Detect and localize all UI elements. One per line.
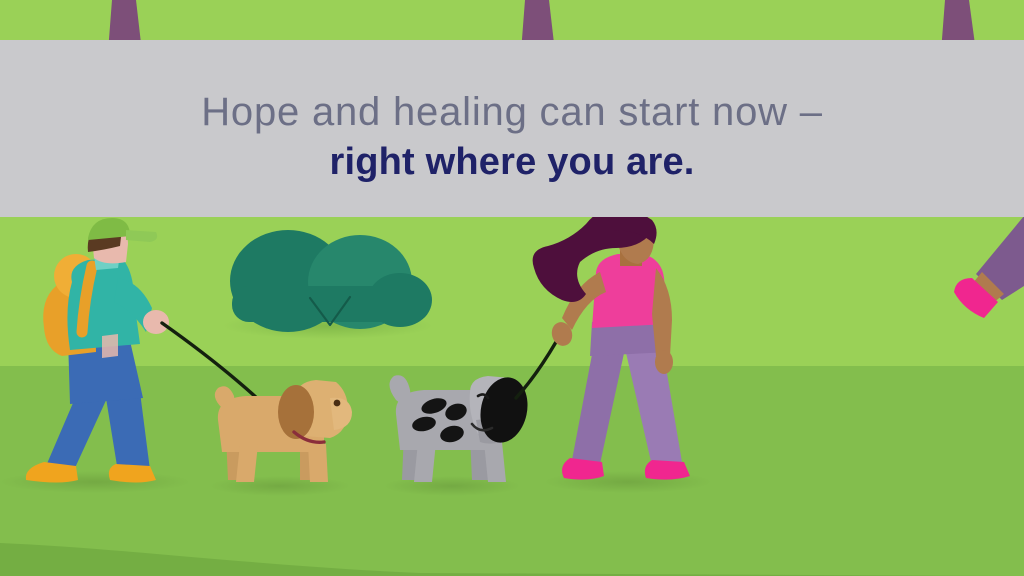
top-sky-band	[0, 0, 1024, 42]
man-pocket	[102, 334, 118, 358]
woman-front-shoe	[645, 460, 690, 480]
shrub-base	[232, 286, 430, 322]
golden-dog-front-leg-2	[308, 444, 328, 482]
man-cap-brim	[126, 230, 157, 242]
caption-band: Hope and healing can start now – right w…	[0, 40, 1024, 217]
caption-line-1: Hope and healing can start now –	[201, 89, 823, 135]
woman-front-hand	[655, 350, 673, 374]
man-front-shoe	[109, 464, 156, 483]
caption-line-2: right where you are.	[329, 139, 694, 187]
video-frame: Hope and healing can start now – right w…	[0, 0, 1024, 576]
man-hand	[143, 310, 169, 334]
golden-dog-eye	[334, 400, 341, 407]
golden-dog-ear	[278, 385, 314, 439]
